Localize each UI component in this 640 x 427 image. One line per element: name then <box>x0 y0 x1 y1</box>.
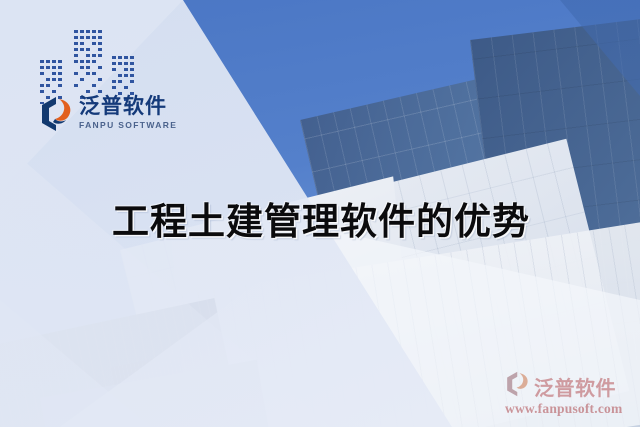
promo-banner: 泛普软件 FANPU SOFTWARE 工程土建管理软件的优势 泛普软件 www… <box>0 0 640 427</box>
watermark-url: www.fanpusoft.com <box>505 401 637 417</box>
page-title: 工程土建管理软件的优势 <box>112 191 530 245</box>
watermark-name-cn: 泛普软件 <box>534 372 616 401</box>
fanpu-watermark-mark <box>505 371 531 402</box>
watermark-brand-row: 泛普软件 <box>505 372 637 400</box>
site-watermark: 泛普软件 www.fanpusoft.com <box>505 372 637 422</box>
fanpu-logo-mark <box>40 96 74 137</box>
brand-logo: 泛普软件 FANPU SOFTWARE <box>40 96 177 137</box>
logo-name-en: FANPU SOFTWARE <box>79 120 177 130</box>
logo-text-block: 泛普软件 FANPU SOFTWARE <box>79 96 177 130</box>
logo-name-cn: 泛普软件 <box>79 96 177 118</box>
